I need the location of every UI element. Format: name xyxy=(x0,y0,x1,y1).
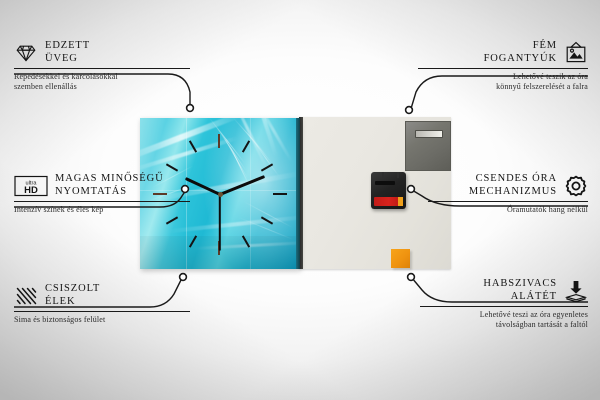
metal-hanger-plate xyxy=(405,121,451,171)
wall-mount-frame-icon xyxy=(564,41,588,65)
feature-foam-pad: HABSZIVACS ALÁTÉT Lehetővé teszi az óra … xyxy=(420,278,588,330)
glass-edge-highlight xyxy=(296,118,300,269)
clock-center-cap xyxy=(218,192,223,197)
svg-text:HD: HD xyxy=(24,185,38,196)
movement-battery-slot xyxy=(375,181,395,185)
feature-description: Intenzív színek és éles kép xyxy=(14,205,190,215)
feature-description: Lehetővé teszik az óra könnyű felszerelé… xyxy=(418,72,588,92)
feature-rule xyxy=(14,68,190,69)
feature-tempered-glass: EDZETT ÜVEG Repedésekkel és karcolásokka… xyxy=(14,40,190,92)
feature-high-quality-print: ultra HD MAGAS MINŐSÉGŰ NYOMTATÁS Intenz… xyxy=(14,173,190,215)
gear-icon xyxy=(564,174,588,198)
feature-silent-mechanism: CSENDES ÓRA MECHANIZMUS Óramutatók hang … xyxy=(428,173,588,215)
movement-label-marker xyxy=(398,197,403,206)
feature-rule xyxy=(14,201,190,202)
feature-head: EDZETT ÜVEG xyxy=(14,40,190,65)
feature-rule xyxy=(418,68,588,69)
feature-description: Lehetővé teszi az óra egyenletes távolsá… xyxy=(420,310,588,330)
movement-hanger-loop xyxy=(382,172,399,178)
clock-minute-hand xyxy=(219,175,265,196)
feature-head: CSISZOLT ÉLEK xyxy=(14,283,190,308)
feature-title: EDZETT ÜVEG xyxy=(45,40,90,65)
infographic-canvas: EDZETT ÜVEG Repedésekkel és karcolásokka… xyxy=(0,0,600,400)
feature-head: ultra HD MAGAS MINŐSÉGŰ NYOMTATÁS xyxy=(14,173,190,198)
ultra-hd-icon: ultra HD xyxy=(14,174,48,198)
feature-title: FÉM FOGANTYÚK xyxy=(484,40,557,65)
feature-metal-handles: FÉM FOGANTYÚK Lehetővé teszik az óra kön… xyxy=(418,40,588,92)
feature-head: FÉM FOGANTYÚK xyxy=(418,40,588,65)
connector-dot-tempered-glass xyxy=(187,105,194,112)
feature-head: HABSZIVACS ALÁTÉT xyxy=(420,278,588,303)
feature-description: Óramutatók hang nélkül xyxy=(428,205,588,215)
feature-rule xyxy=(420,306,588,307)
connector-dot-foam xyxy=(408,274,415,281)
feature-description: Repedésekkel és karcolásokkal szemben el… xyxy=(14,72,190,92)
feature-description: Sima és biztonságos felület xyxy=(14,315,190,325)
foam-spacer-pad xyxy=(391,249,410,268)
quartz-movement-box xyxy=(371,172,406,209)
feature-title: CSISZOLT ÉLEK xyxy=(45,283,100,308)
polished-edges-icon xyxy=(14,284,38,308)
feature-polished-edges: CSISZOLT ÉLEK Sima és biztonságos felüle… xyxy=(14,283,190,325)
feature-rule xyxy=(14,311,190,312)
foam-pad-arrow-icon xyxy=(564,279,588,303)
feature-title: MAGAS MINŐSÉGŰ NYOMTATÁS xyxy=(55,173,164,198)
connector-dot-handles xyxy=(406,107,413,114)
connector-dot-edges xyxy=(180,274,187,281)
feature-rule xyxy=(428,201,588,202)
clock-hour-hand xyxy=(185,177,221,196)
feature-head: CSENDES ÓRA MECHANIZMUS xyxy=(428,173,588,198)
feature-title: CSENDES ÓRA MECHANIZMUS xyxy=(469,173,557,198)
feature-title: HABSZIVACS ALÁTÉT xyxy=(483,278,557,303)
clock-second-hand xyxy=(219,195,221,251)
hanger-keyhole-slot xyxy=(415,130,443,138)
diamond-icon xyxy=(14,41,38,65)
